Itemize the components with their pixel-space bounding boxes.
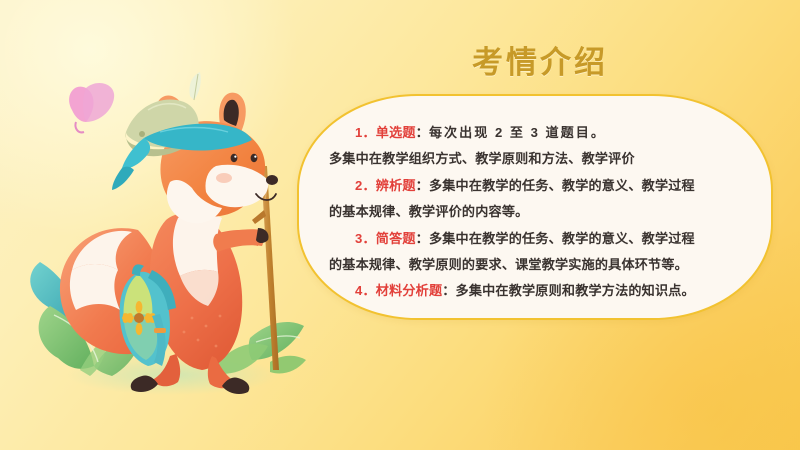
feather-icon [189, 72, 200, 100]
list-item-text: 多集中在教学的任务、教学的意义、教学过程 [429, 231, 695, 246]
list-item: 4．材料分析题：多集中在教学原则和教学方法的知识点。 [329, 278, 745, 304]
fox-arm-left [213, 228, 268, 252]
list-item-text: 多集中在教学组织方式、教学原则和方法、教学评价 [329, 151, 635, 166]
butterfly-icon [69, 83, 114, 132]
list-item: 1．单选题：每次出现 2 至 3 道题目。 [329, 120, 745, 146]
list-item: 的基本规律、教学原则的要求、课堂教学实施的具体环节等。 [329, 252, 745, 278]
list-item-text: 多集中在教学原则和教学方法的知识点。 [456, 283, 695, 298]
question-type-label: 1．单选题 [355, 125, 416, 140]
label-colon: ： [442, 283, 455, 298]
label-colon: ： [416, 231, 429, 246]
content-card: 1．单选题：每次出现 2 至 3 道题目。 多集中在教学组织方式、教学原则和方法… [297, 94, 773, 320]
page-title: 考情介绍 [305, 37, 775, 82]
list-item-text: 的基本规律、教学原则的要求、课堂教学实施的具体环节等。 [329, 257, 688, 272]
list-item: 多集中在教学组织方式、教学原则和方法、教学评价 [329, 146, 745, 172]
list-item-text: 每次出现 2 至 3 道题目。 [429, 125, 606, 140]
question-type-label: 3．简答题 [355, 231, 416, 246]
label-colon: ： [416, 125, 429, 140]
list-item: 2．辨析题：多集中在教学的任务、教学的意义、教学过程 [329, 173, 745, 199]
list-item-text: 多集中在教学的任务、教学的意义、教学过程 [429, 178, 695, 193]
question-type-label: 4．材料分析题 [355, 283, 442, 298]
list-item: 3．简答题：多集中在教学的任务、教学的意义、教学过程 [329, 226, 745, 252]
hiking-fox-illustration [20, 70, 320, 410]
list-item-text: 的基本规律、教学评价的内容等。 [329, 204, 528, 219]
content-text-block: 1．单选题：每次出现 2 至 3 道题目。 多集中在教学组织方式、教学原则和方法… [329, 120, 745, 305]
list-item: 的基本规律、教学评价的内容等。 [329, 199, 745, 225]
question-type-label: 2．辨析题 [355, 178, 416, 193]
label-colon: ： [416, 178, 429, 193]
